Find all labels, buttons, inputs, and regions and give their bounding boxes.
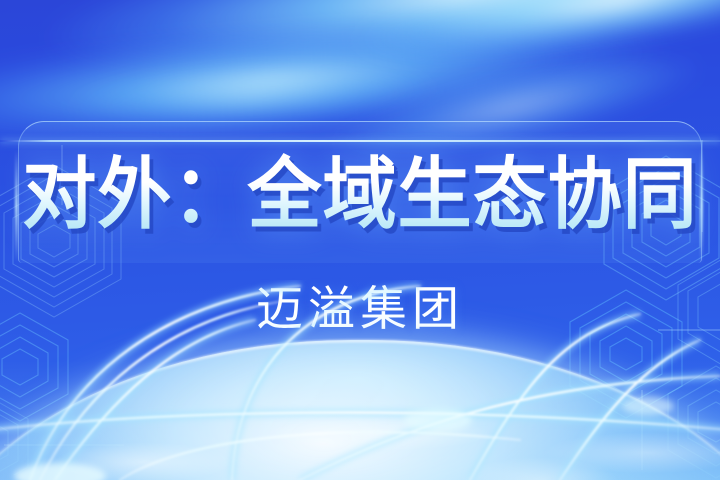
earth-globe: [0, 340, 720, 480]
bottom-atmosphere-haze: [0, 360, 720, 480]
presentation-slide: 对外：全域生态协同 迈溢集团: [0, 0, 720, 480]
light-ribbon-3: [145, 0, 720, 134]
globe-rim-highlight: [0, 340, 720, 480]
globe-cloud-texture: [0, 340, 720, 480]
subtitle-organization: 迈溢集团: [0, 281, 720, 337]
frame-underline: [0, 140, 720, 142]
page-title: 对外：全域生态协同: [18, 146, 702, 242]
